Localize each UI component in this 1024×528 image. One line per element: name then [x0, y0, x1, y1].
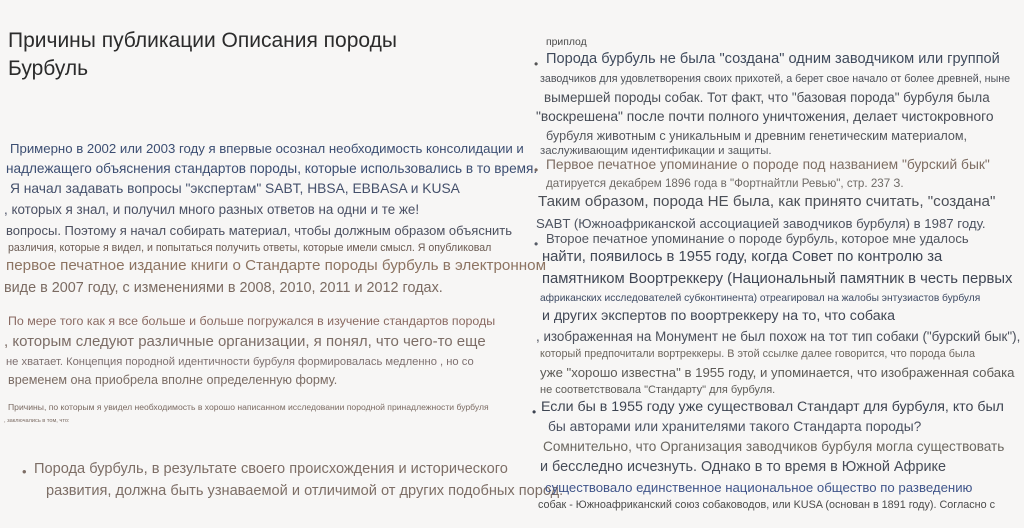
list-item-line: Таким образом, порода НЕ была, как приня… — [538, 194, 995, 209]
list-item-line: Сомнительно, что Организация заводчиков … — [543, 440, 1004, 454]
caption-line: , заключались в том, что: — [4, 419, 69, 425]
list-item-line: датируется декабрем 1896 года в "Фортнай… — [546, 178, 904, 190]
list-item-line: развития, должна быть узнаваемой и отлич… — [46, 484, 563, 499]
body-line: не хватает. Концепция породной идентично… — [6, 357, 474, 368]
body-line: Примерно в 2002 или 2003 году я впервые … — [10, 142, 524, 155]
list-item-line: , изображенная на Монумент не был похож … — [536, 330, 1020, 343]
list-item-line: бурбуля животным с уникальным и древним … — [546, 130, 967, 143]
list-item-line: Если бы в 1955 году уже существовал Стан… — [541, 400, 1004, 414]
list-item-line: Второе печатное упоминание о породе бурб… — [546, 232, 969, 245]
body-line: , которых я знал, и получил много разных… — [4, 203, 419, 216]
list-item-line: уже "хорошо известна" в 1955 году, и упо… — [540, 366, 1015, 379]
list-item-line: Порода бурбуль не была "создана" одним з… — [546, 52, 1000, 67]
list-item-line: найти, появилось в 1955 году, когда Сове… — [542, 250, 942, 265]
body-line: временем она приобрела вполне определенн… — [8, 374, 337, 387]
list-item-line: и бесследно исчезнуть. Однако в то время… — [540, 460, 946, 474]
caption-line: Причины, по которым я увидел необходимос… — [8, 403, 489, 412]
list-item-line: собак - Южноафриканский союз собаководов… — [538, 500, 995, 511]
body-line: , которым следуют различные организации,… — [4, 334, 486, 349]
list-item-line: бы авторами или хранителями такого Станд… — [548, 420, 921, 434]
list-item-line: SABT (Южноафриканской ассоциацией заводч… — [536, 217, 986, 230]
document-page: Причины публикации Описания породы Бурбу… — [0, 0, 1024, 528]
bullet-marker-icon: • — [532, 406, 536, 418]
body-line: надлежащего объяснения стандартов породы… — [6, 162, 537, 176]
list-item-line: заслуживающим идентификации и защиты. — [540, 146, 772, 157]
body-line: вопросы. Поэтому я начал собирать матери… — [6, 224, 512, 237]
list-item-line: не соответствовала "Стандарту" для бурбу… — [540, 385, 775, 396]
orphan-line: приплод — [546, 38, 587, 48]
list-item-line: Порода бурбуль, в результате своего прои… — [34, 462, 508, 477]
list-item-line: и других экспертов по воортреккеру на то… — [542, 309, 895, 323]
body-line: первое печатное издание книги о Стандарт… — [6, 258, 546, 273]
body-line: По мере того как я все больше и больше п… — [8, 315, 495, 327]
list-item-line: "воскрешена" после почти полного уничтож… — [536, 110, 994, 124]
list-item-line: существовало единственное национальное о… — [545, 481, 972, 494]
list-item-line: памятником Воортреккеру (Национальный па… — [542, 272, 1012, 287]
list-item-line: который предпочитали вортреккеры. В этой… — [540, 349, 975, 360]
page-title-line-1: Причины публикации Описания породы — [8, 30, 397, 51]
list-item-line: вымершей породы собак. Тот факт, что "ба… — [544, 91, 990, 104]
body-line: виде в 2007 году, с изменениями в 2008, … — [4, 281, 443, 295]
page-title-line-2: Бурбуль — [8, 58, 88, 79]
body-line: различия, которые я видел, и попытаться … — [8, 243, 491, 254]
bullet-marker-icon: • — [534, 164, 538, 176]
bullet-marker-icon: • — [534, 238, 538, 250]
list-item-line: Первое печатное упоминание о породе под … — [546, 158, 990, 172]
body-line: Я начал задавать вопросы "экспертам" SAB… — [10, 182, 460, 196]
bullet-marker-icon: • — [534, 58, 538, 70]
bullet-marker-icon: • — [22, 464, 27, 479]
list-item-line: африканских исследователей субконтинента… — [540, 294, 980, 304]
list-item-line: заводчиков для удовлетворения своих прих… — [540, 74, 1010, 85]
left-column: Причины публикации Описания породы Бурбу… — [0, 0, 530, 528]
